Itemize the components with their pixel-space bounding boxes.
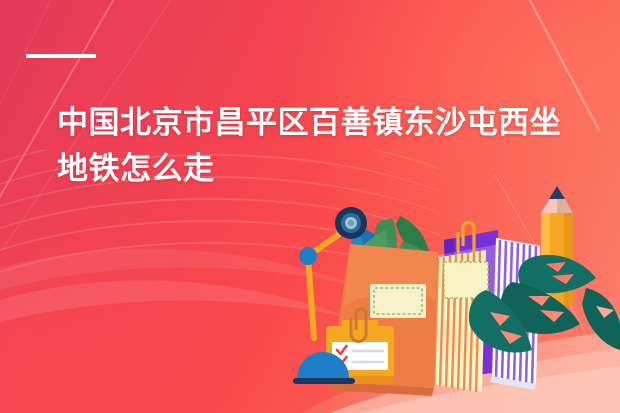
promo-banner: 中国北京市昌平区百善镇东沙屯西坐地铁怎么走 [0, 0, 620, 413]
stationery-illustration [0, 0, 620, 413]
